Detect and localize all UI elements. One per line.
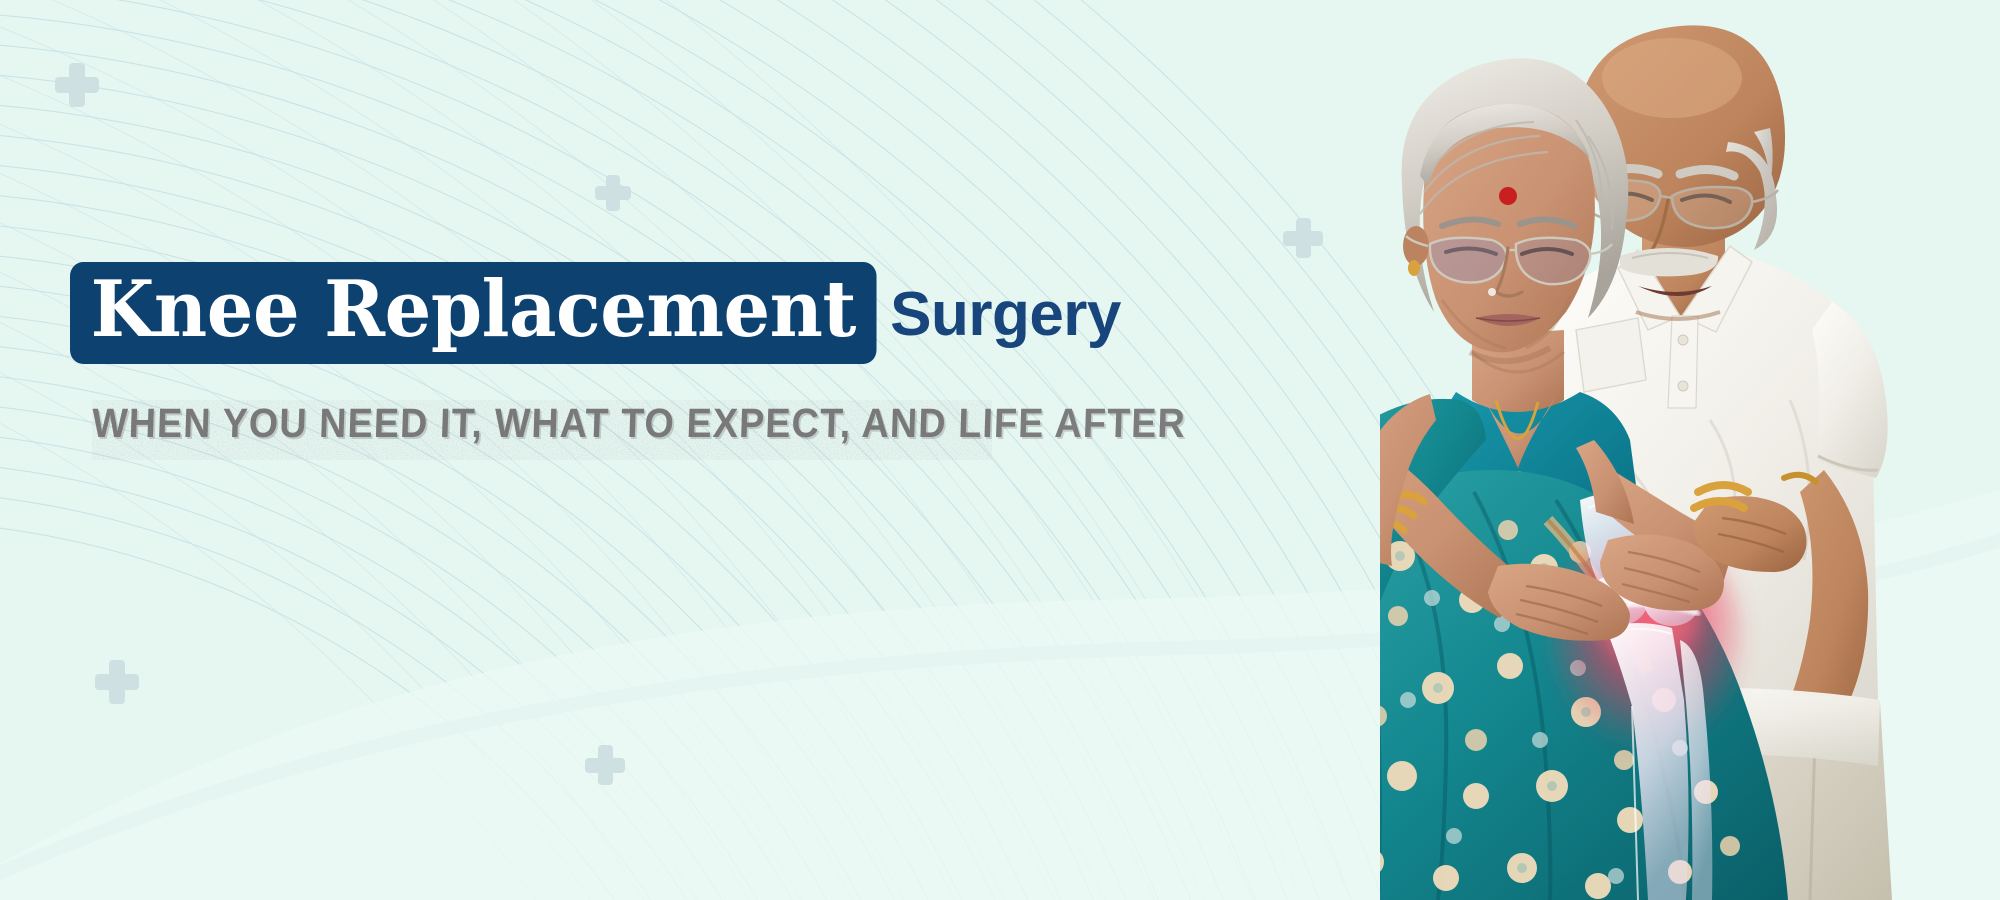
- headline-highlighted-text: Knee Replacement: [70, 262, 877, 364]
- elderly-couple-photo: [1380, 0, 2000, 900]
- banner-subtitle: WHEN YOU NEED IT, WHAT TO EXPECT, AND LI…: [91, 400, 1186, 447]
- banner-text-content: Knee Replacement Surgery WHEN YOU NEED I…: [0, 0, 1100, 900]
- headline-trailing-text: Surgery: [890, 279, 1121, 350]
- knee-replacement-hero-banner: Knee Replacement Surgery WHEN YOU NEED I…: [0, 0, 2000, 900]
- plus-icon-upper-right: [1283, 218, 1323, 258]
- banner-headline: Knee Replacement Surgery: [70, 262, 1121, 364]
